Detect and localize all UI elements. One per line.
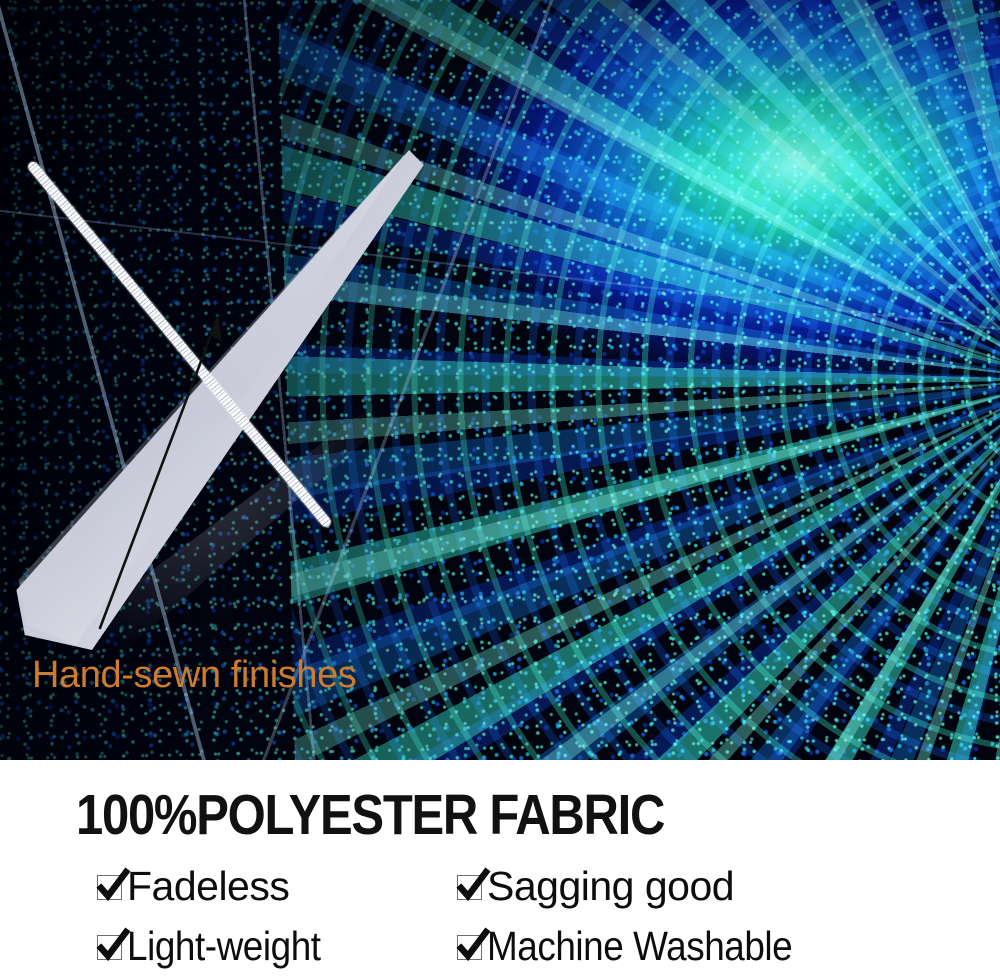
feature-label: Light-weight [127, 926, 321, 967]
check-mark-icon [455, 871, 489, 905]
feature-label: Sagging good [487, 866, 734, 907]
check-mark-icon [95, 931, 129, 965]
feature-checklist: Fadeless Sagging good [0, 856, 1000, 976]
feature-item-machine-washable[interactable]: Machine Washable [455, 926, 1000, 967]
feature-label: Fadeless [127, 866, 289, 907]
fabric-composition-heading: 100%POLYESTER FABRIC [76, 782, 664, 848]
tapestry-fabric-sheet [0, 0, 1000, 760]
product-feature-image: Hand-sewn finishes 100%POLYESTER FABRIC … [0, 0, 1000, 977]
fabric-spec-block: 100%POLYESTER FABRIC Fadeless [0, 760, 1000, 977]
feature-row: Fadeless Sagging good [0, 856, 1000, 916]
feature-item-light-weight[interactable]: Light-weight [0, 926, 455, 967]
hand-sewn-caption: Hand-sewn finishes [32, 654, 356, 697]
feature-item-sagging-good[interactable]: Sagging good [455, 866, 1000, 907]
product-photo: Hand-sewn finishes [0, 0, 1000, 760]
checkbox-checked-icon[interactable] [455, 871, 485, 901]
feature-label: Machine Washable [487, 926, 792, 967]
feature-item-fadeless[interactable]: Fadeless [0, 866, 455, 907]
checkbox-checked-icon[interactable] [95, 871, 125, 901]
check-mark-icon [455, 931, 489, 965]
checkbox-checked-icon[interactable] [455, 931, 485, 961]
fabric-crease-lines [0, 0, 1000, 760]
checkbox-checked-icon[interactable] [95, 931, 125, 961]
feature-row: Light-weight Machine Washable [0, 916, 1000, 976]
check-mark-icon [95, 871, 129, 905]
